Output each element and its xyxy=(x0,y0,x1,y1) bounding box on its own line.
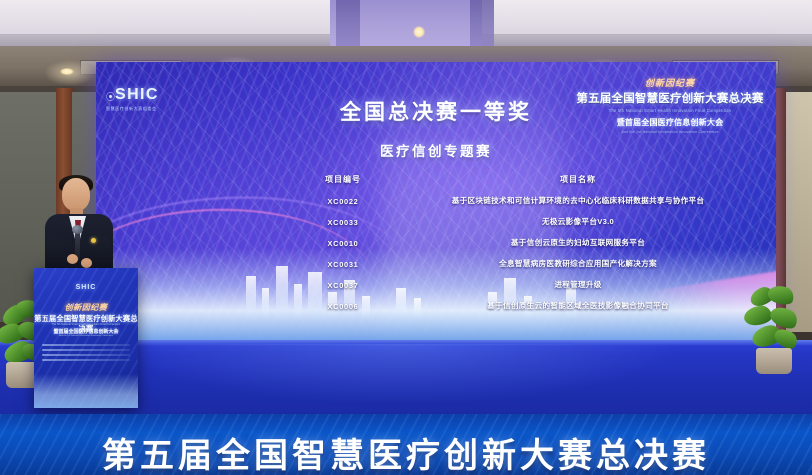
winners-table: 项目编号 项目名称 XC0022 基于区块链技术和可信计算环境的去中心化临床科研… xyxy=(288,174,758,317)
banner-title-text: 第五届全国智慧医疗创新大赛总决赛 xyxy=(0,428,812,475)
table-row: XC0033 无极云影像平台V3.0 xyxy=(288,212,758,233)
lapel-pin-icon xyxy=(91,238,96,243)
podium-lectern: SHIC 创新因纪赛 第五届全国智慧医疗创新大赛总决赛 The 5th Nati… xyxy=(34,268,138,408)
table-row: XC0006 基于信创原生云的智能区域全医技影像融合协同平台 xyxy=(288,296,758,317)
table-row: XC0010 基于信创云原生的妇幼互联网服务平台 xyxy=(288,233,758,254)
cell-project-code: XC0022 xyxy=(288,197,398,206)
award-title: 全国总决赛一等奖 xyxy=(96,96,776,126)
cell-project-code: XC0010 xyxy=(288,239,398,248)
hand-left xyxy=(67,254,78,264)
cell-project-name: 基于信创云原生的妇幼互联网服务平台 xyxy=(398,238,758,248)
head xyxy=(62,178,90,211)
award-heading-block: 全国总决赛一等奖 医疗信创专题赛 xyxy=(96,96,776,160)
podium-cityscape xyxy=(34,374,138,408)
event-script-line: 创新因纪赛 xyxy=(570,76,770,89)
hand-right xyxy=(81,258,92,268)
cell-project-name: 基于信创原生云的智能区域全医技影像融合协同平台 xyxy=(398,301,758,311)
potted-plant-right xyxy=(740,286,800,396)
ceiling-slot-left xyxy=(336,0,360,46)
table-row: XC0022 基于区块链技术和可信计算环境的去中心化临床科研数据共享与协作平台 xyxy=(288,191,758,212)
table-row: XC0037 进程管理升级 xyxy=(288,275,758,296)
cell-project-name: 全息智慧病房医教研综合应用国产化解决方案 xyxy=(398,259,758,269)
led-display-screen: ⦿SHIC 智慧医疗创新大赛组委会 创新因纪赛 第五届全国智慧医疗创新大赛总决赛… xyxy=(96,62,776,340)
bottom-stage-banner: 第五届全国智慧医疗创新大赛总决赛 xyxy=(0,414,812,475)
conference-stage-photo: ⦿SHIC 智慧医疗创新大赛组委会 创新因纪赛 第五届全国智慧医疗创新大赛总决赛… xyxy=(0,0,812,475)
cell-project-name: 基于区块链技术和可信计算环境的去中心化临床科研数据共享与协作平台 xyxy=(398,196,758,206)
ceiling-slot-right xyxy=(470,0,494,46)
table-row: XC0031 全息智慧病房医教研综合应用国产化解决方案 xyxy=(288,254,758,275)
ceiling-spotlight xyxy=(413,26,425,38)
cell-project-name: 无极云影像平台V3.0 xyxy=(398,217,758,227)
cell-project-code: XC0033 xyxy=(288,218,398,227)
downlight xyxy=(60,68,74,75)
podium-detail-lines xyxy=(42,344,130,364)
ceiling-panel-left xyxy=(0,0,330,35)
cell-project-name: 进程管理升级 xyxy=(398,280,758,290)
microphone-head-icon xyxy=(72,225,83,234)
award-subtitle: 医疗信创专题赛 xyxy=(96,140,776,160)
stage-floor-reflection xyxy=(120,344,680,404)
podium-shic-logo: SHIC xyxy=(34,284,138,291)
cell-project-code: XC0006 xyxy=(288,302,398,311)
podium-secondary-title: 暨首届全国医疗信息创新大会 xyxy=(34,328,138,335)
podium-english-secondary: And the 1st National Information Innovat… xyxy=(34,335,138,337)
ceiling xyxy=(0,0,812,46)
podium-script-line: 创新因纪赛 xyxy=(34,302,138,313)
table-header-row: 项目编号 项目名称 xyxy=(288,174,758,191)
column-header-code: 项目编号 xyxy=(288,174,398,185)
cell-project-code: XC0031 xyxy=(288,260,398,269)
ceiling-panel-right xyxy=(482,0,812,35)
podium-english-title: The 5th National Smart Health Innovation… xyxy=(34,323,138,326)
cell-project-code: XC0037 xyxy=(288,281,398,290)
column-header-name: 项目名称 xyxy=(398,174,758,185)
